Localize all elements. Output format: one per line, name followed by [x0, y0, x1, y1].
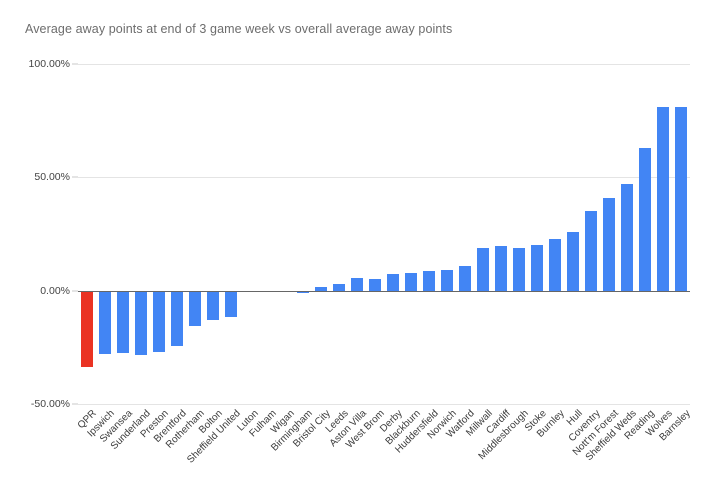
bar-slot [330, 64, 348, 404]
bar[interactable] [603, 198, 615, 291]
y-axis-tick-label: -50.00% [8, 398, 70, 410]
bar-slot [204, 64, 222, 404]
bar[interactable] [585, 211, 597, 290]
bar[interactable] [117, 291, 129, 353]
bar[interactable] [99, 291, 111, 354]
bar-slot [240, 64, 258, 404]
zero-baseline [78, 291, 690, 292]
chart-container: Average away points at end of 3 game wee… [0, 0, 708, 500]
bar-slot [150, 64, 168, 404]
bar-slot [600, 64, 618, 404]
bar-slot [78, 64, 96, 404]
bar[interactable] [225, 291, 237, 317]
bar-slot [402, 64, 420, 404]
bar-slot [366, 64, 384, 404]
plot-area: -50.00%0.00%50.00%100.00% [78, 64, 690, 404]
bar[interactable] [369, 279, 381, 290]
bar[interactable] [675, 107, 687, 291]
bar[interactable] [387, 274, 399, 291]
bar-slot [132, 64, 150, 404]
bar[interactable] [459, 266, 471, 291]
bar[interactable] [189, 291, 201, 326]
bar-slot [618, 64, 636, 404]
bar-slot [474, 64, 492, 404]
bar[interactable] [657, 107, 669, 291]
bar-slot [636, 64, 654, 404]
bar[interactable] [549, 239, 561, 291]
bar-slot [654, 64, 672, 404]
bar[interactable] [423, 271, 435, 290]
bar[interactable] [639, 148, 651, 291]
bar-slot [582, 64, 600, 404]
bar[interactable] [333, 284, 345, 291]
bar[interactable] [135, 291, 147, 356]
bar-slot [312, 64, 330, 404]
bar-slot [114, 64, 132, 404]
bar[interactable] [441, 270, 453, 290]
bar[interactable] [513, 248, 525, 291]
bar-slot [96, 64, 114, 404]
bar[interactable] [477, 248, 489, 291]
bar-slot [528, 64, 546, 404]
bar-slot [186, 64, 204, 404]
bar-slot [348, 64, 366, 404]
bar-slot [492, 64, 510, 404]
x-axis-labels: QPRIpswichSwanseaSunderlandPrestonBrentf… [78, 408, 690, 498]
y-axis-tick-label: 0.00% [8, 285, 70, 297]
bar-slot [420, 64, 438, 404]
bar[interactable] [531, 245, 543, 290]
bar[interactable] [153, 291, 165, 352]
gridline [78, 404, 690, 405]
bar-slot [276, 64, 294, 404]
bars-group [78, 64, 690, 404]
bar-slot [564, 64, 582, 404]
bar-slot [456, 64, 474, 404]
bar[interactable] [171, 291, 183, 347]
y-axis-tick-label: 50.00% [8, 171, 70, 183]
chart-title: Average away points at end of 3 game wee… [25, 22, 452, 36]
bar[interactable] [495, 246, 507, 290]
bar[interactable] [621, 184, 633, 291]
bar[interactable] [567, 232, 579, 291]
bar-slot [384, 64, 402, 404]
bar[interactable] [405, 273, 417, 291]
y-axis-tick-label: 100.00% [8, 58, 70, 70]
bar-slot [168, 64, 186, 404]
bar-slot [672, 64, 690, 404]
bar-slot [222, 64, 240, 404]
bar[interactable] [351, 278, 363, 290]
bar[interactable] [81, 291, 93, 367]
bar-slot [294, 64, 312, 404]
bar-slot [438, 64, 456, 404]
bar-slot [546, 64, 564, 404]
bar-slot [258, 64, 276, 404]
bar[interactable] [207, 291, 219, 320]
bar-slot [510, 64, 528, 404]
